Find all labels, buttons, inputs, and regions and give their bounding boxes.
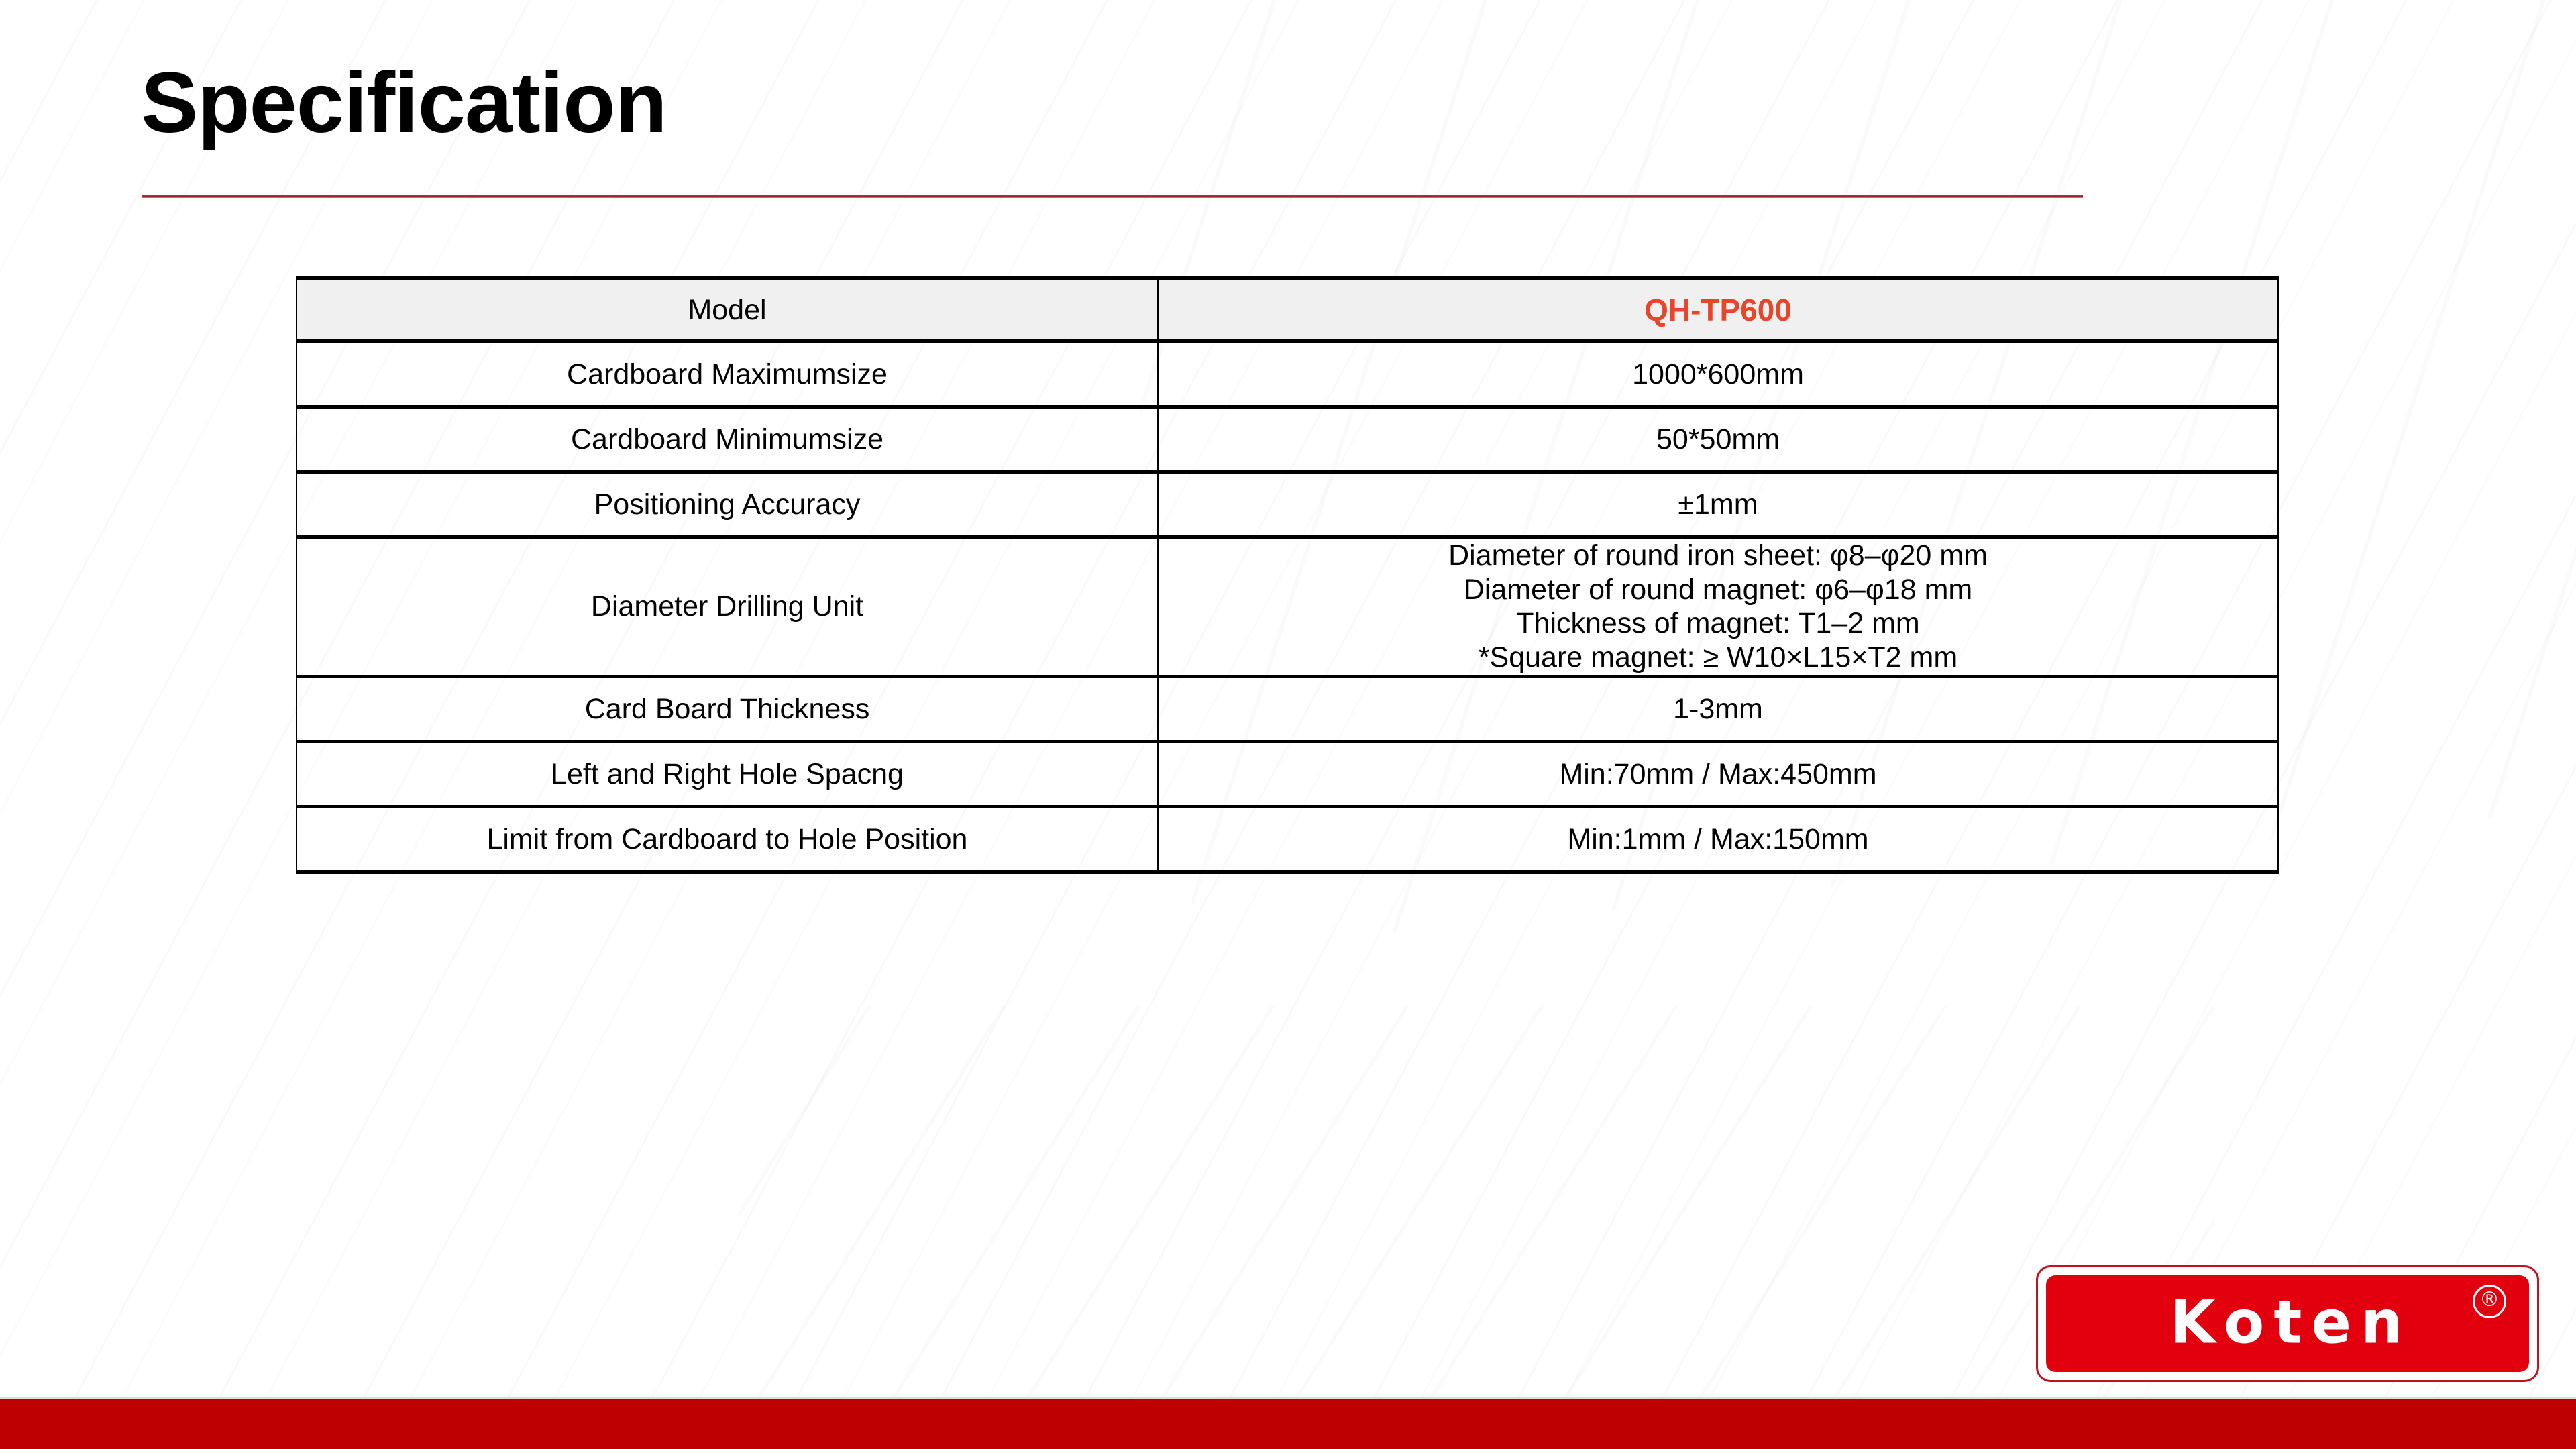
table-header-model-value: QH-TP600 (1158, 278, 2278, 341)
koten-logo-plate: Koten ® (2046, 1275, 2529, 1372)
page-title: Specification (141, 60, 667, 146)
koten-logo: Koten ® (2036, 1265, 2539, 1382)
specification-table: Model QH-TP600 Cardboard Maximumsize 100… (296, 276, 2279, 874)
koten-logo-wordmark: Koten (2046, 1287, 2529, 1356)
table-row: Cardboard Minimumsize 50*50mm (297, 407, 2278, 472)
background-texture-bottom (738, 1006, 2214, 1449)
title-divider (142, 195, 2083, 198)
row-label-positioning-accuracy: Positioning Accuracy (297, 472, 1158, 537)
drilling-line-iron-sheet: Diameter of round iron sheet: φ8–φ20 mm (1159, 539, 2277, 573)
bottom-accent-bar (0, 1399, 2576, 1449)
table-row: Diameter Drilling Unit Diameter of round… (297, 537, 2278, 677)
row-value-cardboard-maximumsize: 1000*600mm (1158, 341, 2278, 407)
registered-trademark-icon: ® (2473, 1285, 2506, 1318)
row-label-left-right-hole-spacing: Left and Right Hole Spacng (297, 741, 1158, 806)
drilling-line-round-magnet: Diameter of round magnet: φ6–φ18 mm (1159, 573, 2277, 607)
table-row: Positioning Accuracy ±1mm (297, 472, 2278, 537)
row-label-limit-cardboard-to-hole: Limit from Cardboard to Hole Position (297, 806, 1158, 872)
row-value-left-right-hole-spacing: Min:70mm / Max:450mm (1158, 741, 2278, 806)
table-row: Left and Right Hole Spacng Min:70mm / Ma… (297, 741, 2278, 806)
row-label-cardboard-maximumsize: Cardboard Maximumsize (297, 341, 1158, 407)
drilling-line-square-magnet: *Square magnet: ≥ W10×L15×T2 mm (1159, 641, 2277, 675)
row-value-positioning-accuracy: ±1mm (1158, 472, 2278, 537)
row-label-diameter-drilling-unit: Diameter Drilling Unit (297, 537, 1158, 677)
row-value-cardboard-minimumsize: 50*50mm (1158, 407, 2278, 472)
drilling-line-magnet-thickness: Thickness of magnet: T1–2 mm (1159, 606, 2277, 641)
table-row: Cardboard Maximumsize 1000*600mm (297, 341, 2278, 407)
row-label-card-board-thickness: Card Board Thickness (297, 676, 1158, 741)
slide-canvas: Specification Model QH-TP600 Cardboard M… (0, 0, 2576, 1449)
row-label-cardboard-minimumsize: Cardboard Minimumsize (297, 407, 1158, 472)
row-value-card-board-thickness: 1-3mm (1158, 676, 2278, 741)
table-row: Card Board Thickness 1-3mm (297, 676, 2278, 741)
row-value-limit-cardboard-to-hole: Min:1mm / Max:150mm (1158, 806, 2278, 872)
row-value-diameter-drilling-unit: Diameter of round iron sheet: φ8–φ20 mm … (1158, 537, 2278, 677)
table-row: Limit from Cardboard to Hole Position Mi… (297, 806, 2278, 872)
table-header-label: Model (297, 278, 1158, 341)
table-header-row: Model QH-TP600 (297, 278, 2278, 341)
